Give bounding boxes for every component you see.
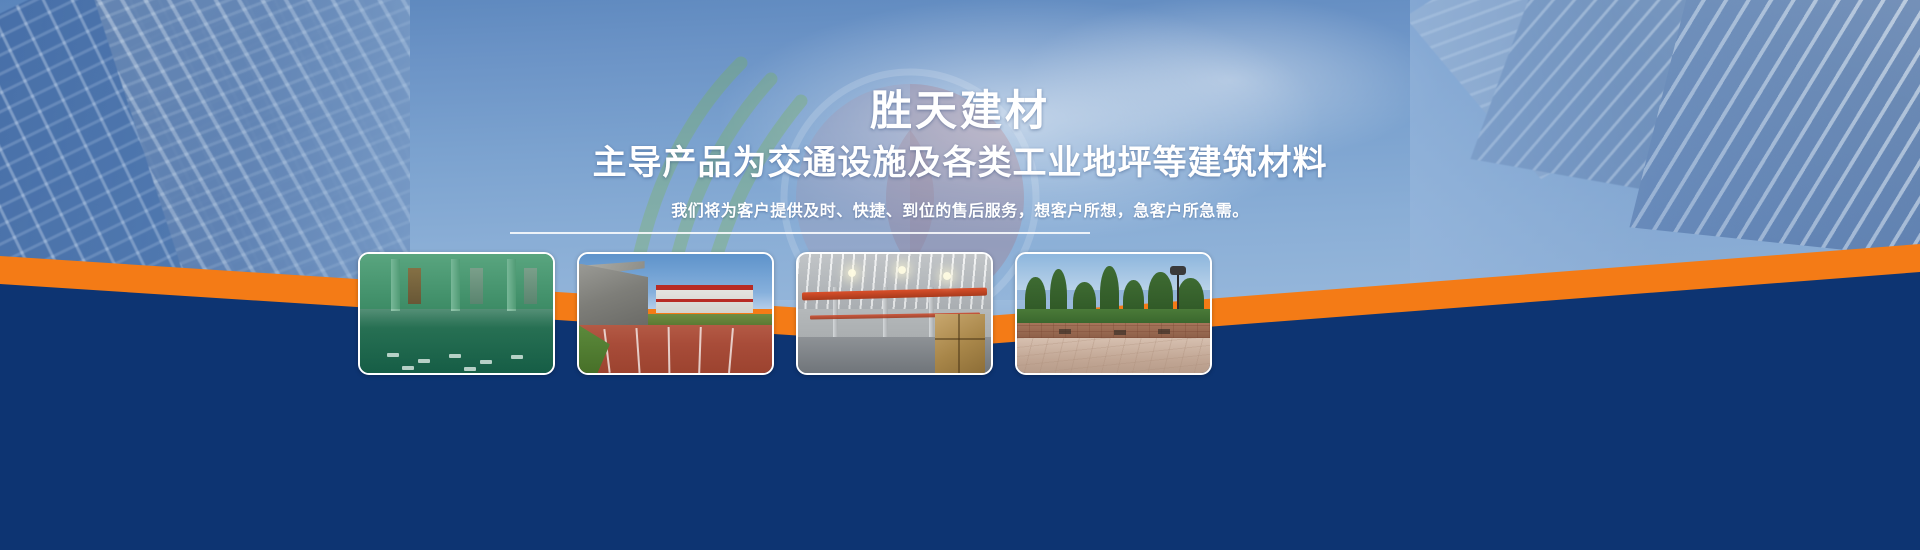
thumb1-scene	[360, 254, 553, 373]
thumb1-column	[391, 259, 400, 311]
thumb1-floor-mark	[402, 366, 414, 370]
thumb2-lane-line	[698, 327, 701, 373]
thumb3-scene	[798, 254, 991, 373]
thumbnail-green-epoxy-floor-hall[interactable]	[358, 252, 555, 375]
thumb1-door	[470, 268, 483, 304]
thumb4-paved-plaza	[1017, 338, 1210, 373]
thumb1-floor-mark	[464, 367, 476, 371]
thumbnail-stadium-running-track[interactable]	[577, 252, 774, 375]
thumb4-scene	[1017, 254, 1210, 373]
thumb4-wall-plaque	[1114, 330, 1126, 335]
thumb1-column	[451, 259, 460, 311]
thumb1-column	[507, 259, 516, 311]
banner-title: 胜天建材	[0, 88, 1920, 134]
thumb1-floor-mark	[387, 353, 399, 357]
thumb1-door	[408, 268, 421, 304]
thumb2-scene	[579, 254, 772, 373]
thumbnail-paved-park-plaza[interactable]	[1015, 252, 1212, 375]
thumb4-wall-plaque	[1059, 329, 1071, 334]
thumb1-floor-mark	[449, 354, 461, 358]
thumb3-roof-structure	[798, 254, 991, 309]
thumb1-floor-reflection	[360, 309, 553, 373]
thumb1-floor-mark	[480, 360, 492, 364]
thumb2-lane-line	[635, 328, 640, 373]
thumb2-building-roofline	[656, 285, 753, 290]
thumb1-door	[524, 268, 537, 304]
thumb2-lane-line	[667, 327, 669, 373]
thumb3-ceiling-light	[943, 272, 951, 280]
banner-subtitle: 主导产品为交通设施及各类工业地坪等建筑材料	[0, 144, 1920, 183]
thumb2-building-band	[656, 299, 753, 302]
thumb2-lane-line	[728, 328, 733, 373]
thumbnail-strip	[358, 252, 1218, 377]
thumb3-wooden-crate	[935, 314, 985, 374]
hero-banner: 胜天建材 主导产品为交通设施及各类工业地坪等建筑材料 我们将为客户提供及时、快捷…	[0, 0, 1920, 550]
banner-divider	[510, 232, 1090, 234]
thumb4-wall-plaque	[1158, 329, 1170, 334]
thumb2-running-track	[579, 325, 772, 373]
banner-tagline: 我们将为客户提供及时、快捷、到位的售后服务，想客户所想，急客户所急需。	[0, 200, 1920, 222]
thumb1-floor-mark	[511, 355, 523, 359]
thumb1-floor-mark	[418, 359, 430, 363]
thumbnail-factory-interior-warehouse[interactable]	[796, 252, 993, 375]
